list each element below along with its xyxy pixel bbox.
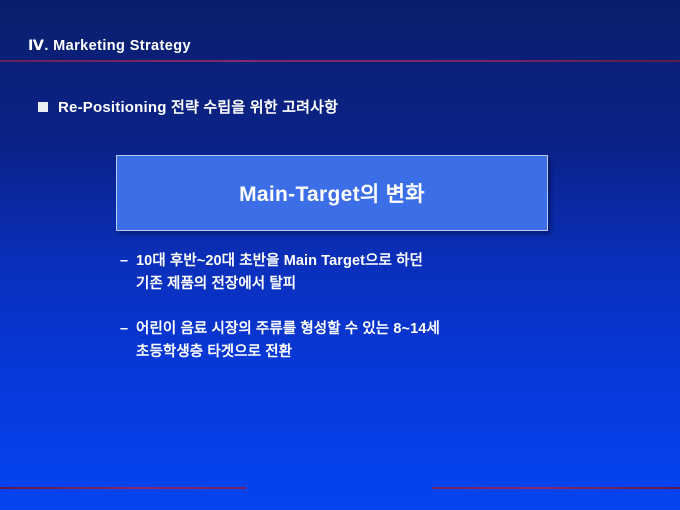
square-bullet-icon (38, 102, 48, 112)
page-title: Ⅳ. Marketing Strategy (28, 38, 191, 54)
list-item-line: 어린이 음료 시장의 주류를 형성할 수 있는 8~14세 (136, 321, 440, 337)
body-bullet-list: – 10대 후반~20대 초반을 Main Target으로 하던 기존 제품의… (120, 250, 590, 386)
dash-bullet-icon: – (120, 250, 136, 272)
header-divider (0, 60, 680, 62)
bullet-heading-label: Re-Positioning 전략 수립을 위한 고려사항 (58, 96, 338, 117)
main-target-title-box: Main-Target의 변화 (116, 155, 548, 231)
list-item: – 어린이 음료 시장의 주류를 형성할 수 있는 8~14세 초등학생층 타겟… (120, 318, 590, 364)
dash-bullet-icon: – (120, 318, 136, 340)
footer-divider-left (0, 487, 246, 489)
list-item-line: 초등학생층 타겟으로 전환 (136, 344, 292, 360)
list-item-text: 어린이 음료 시장의 주류를 형성할 수 있는 8~14세 초등학생층 타겟으로… (136, 318, 440, 364)
footer-divider-right (432, 487, 680, 489)
main-target-title-text: Main-Target의 변화 (239, 178, 425, 208)
list-item-line: 기존 제품의 전장에서 탈피 (136, 276, 296, 292)
list-item-line: 10대 후반~20대 초반을 Main Target으로 하던 (136, 253, 423, 269)
list-item-text: 10대 후반~20대 초반을 Main Target으로 하던 기존 제품의 전… (136, 250, 423, 296)
list-item: – 10대 후반~20대 초반을 Main Target으로 하던 기존 제품의… (120, 250, 590, 296)
bullet-heading: Re-Positioning 전략 수립을 위한 고려사항 (38, 96, 338, 117)
slide-canvas: Ⅳ. Marketing Strategy Re-Positioning 전략 … (0, 0, 680, 510)
